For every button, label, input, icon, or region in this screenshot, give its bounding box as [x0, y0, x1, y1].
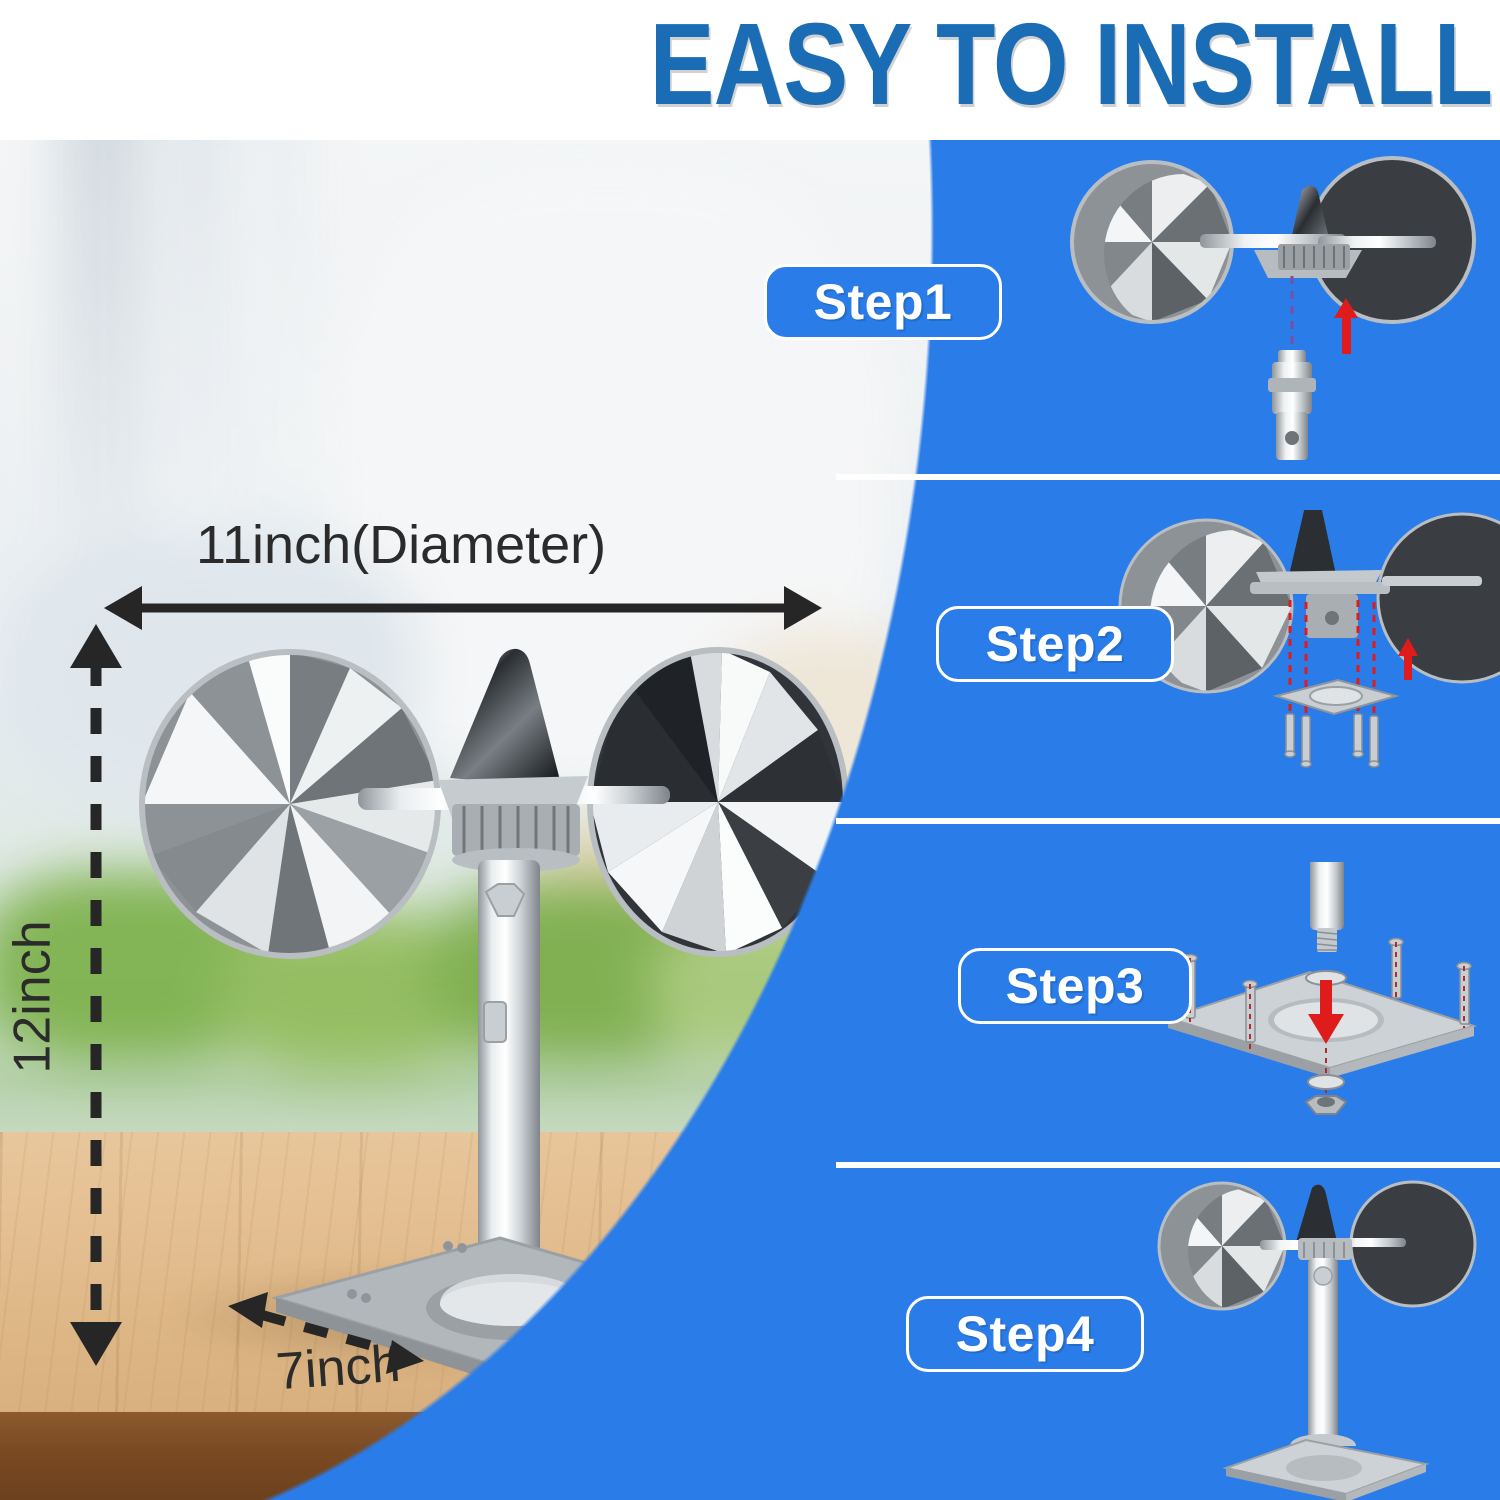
- step-badge-4[interactable]: Step4: [906, 1296, 1144, 1372]
- step4-illustration: [1130, 1178, 1500, 1500]
- step-badge-2[interactable]: Step2: [936, 606, 1174, 682]
- step1-pole-adapter: [1268, 350, 1316, 460]
- step4-base-plate: [1226, 1440, 1426, 1500]
- step4-pole: [1308, 1258, 1338, 1444]
- step3-washer-bottom: [1308, 1075, 1344, 1089]
- arrow-diameter: [104, 586, 822, 630]
- step3-pole: [1310, 862, 1344, 930]
- step3-nut: [1306, 1096, 1346, 1114]
- panel-divider-3: [836, 1162, 1500, 1168]
- arrow-height: [70, 624, 122, 1366]
- step1-illustration: [1040, 150, 1500, 480]
- step3-thread: [1317, 928, 1337, 952]
- step2-right-disc: [1378, 514, 1500, 682]
- step3-illustration: [1140, 862, 1500, 1162]
- step-badge-2-label: Step2: [986, 615, 1125, 673]
- title-bar: EASY TO INSTALL: [0, 0, 1500, 140]
- step2-screws: [1285, 714, 1379, 767]
- arrow-base-width: [228, 1292, 424, 1374]
- page-title: EASY TO INSTALL: [649, 4, 1492, 124]
- step-badge-1[interactable]: Step1: [764, 264, 1002, 340]
- step2-bracket: [1276, 680, 1396, 714]
- step-badge-3-label: Step3: [1006, 957, 1145, 1015]
- panel-divider-2: [836, 818, 1500, 824]
- step4-cone: [1296, 1185, 1338, 1246]
- infographic-canvas: Step1 Step2 Step3 Step4: [0, 0, 1500, 1500]
- step-badge-3[interactable]: Step3: [958, 948, 1192, 1024]
- arrow-base-depth: [608, 1296, 760, 1380]
- step-badge-1-label: Step1: [814, 273, 953, 331]
- step-badge-4-label: Step4: [956, 1305, 1095, 1363]
